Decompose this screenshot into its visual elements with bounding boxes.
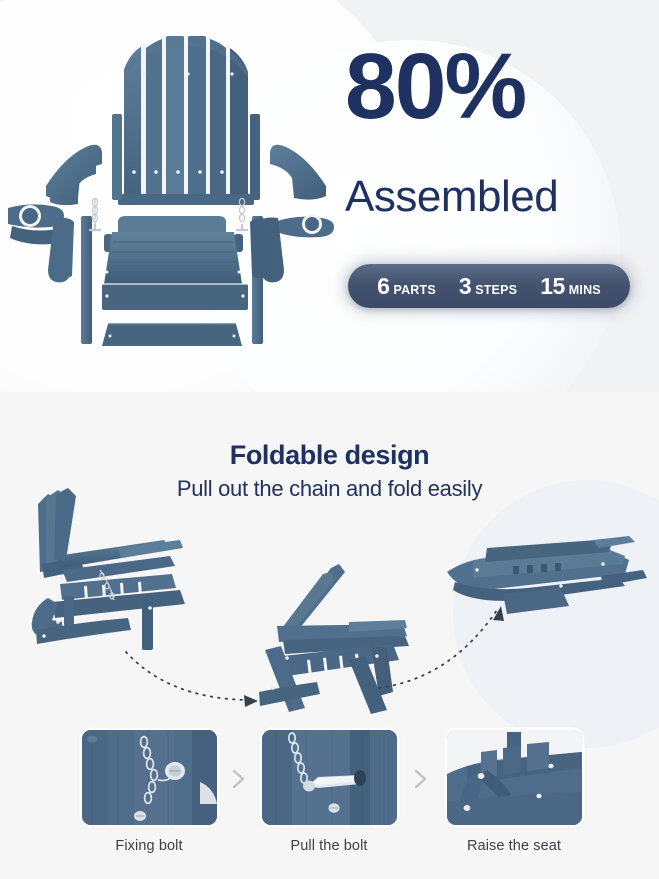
screw-icon <box>134 811 146 821</box>
step-caption-3: Raise the seat <box>439 838 589 854</box>
step-thumb-raise-the-seat[interactable] <box>447 730 582 825</box>
right-wedge <box>250 218 270 278</box>
step-thumb-fixing-bolt[interactable] <box>82 730 217 825</box>
stats-pill: 6 PARTS 3 STEPS 15 MINS <box>348 264 630 308</box>
screw-icon <box>329 803 340 813</box>
stat-parts: 6 PARTS <box>377 273 436 300</box>
page-title-percent: 80% <box>345 42 645 130</box>
left-rail <box>81 216 92 344</box>
foldable-title: Foldable design <box>0 440 659 471</box>
bolt-icon <box>165 762 185 780</box>
stat-steps-unit: STEPS <box>475 283 517 297</box>
step-caption-1: Fixing bolt <box>74 838 224 854</box>
stat-steps: 3 STEPS <box>459 273 517 300</box>
stat-mins-unit: MINS <box>569 283 601 297</box>
stat-steps-value: 3 <box>459 273 471 300</box>
left-wedge <box>54 218 74 278</box>
foldable-design-section: Foldable design Pull out the chain and f… <box>0 392 659 879</box>
right-cupholder-bracket <box>274 214 334 237</box>
step-caption-2: Pull the bolt <box>254 838 404 854</box>
stage3-folded-body <box>447 536 647 614</box>
front-cross-beam <box>102 324 242 346</box>
stat-mins-value: 15 <box>540 273 565 300</box>
chair-back-slats <box>112 36 260 205</box>
step-separator-2 <box>410 768 430 790</box>
exploded-chair-illustration <box>6 26 336 366</box>
hero-section: 80% Assembled 6 PARTS 3 STEPS 15 MINS <box>0 0 659 392</box>
product-infographic: 80% Assembled 6 PARTS 3 STEPS 15 MINS Fo… <box>0 0 659 879</box>
fold-arrow-1 <box>120 642 270 712</box>
step-thumbnails-row: Fixing bolt Pull the bolt Raise the seat <box>0 730 659 860</box>
page-subtitle-assembled: Assembled <box>345 172 645 222</box>
chair-seat-assembly <box>102 216 248 310</box>
step-separator-1 <box>228 768 248 790</box>
stat-parts-unit: PARTS <box>393 283 435 297</box>
stat-mins: 15 MINS <box>540 273 601 300</box>
fold-stage-unfolded <box>22 478 232 658</box>
step-thumb-pull-the-bolt[interactable] <box>262 730 397 825</box>
stat-parts-value: 6 <box>377 273 389 300</box>
chair-right-arm <box>270 145 326 200</box>
fold-stage-folded <box>443 524 648 634</box>
